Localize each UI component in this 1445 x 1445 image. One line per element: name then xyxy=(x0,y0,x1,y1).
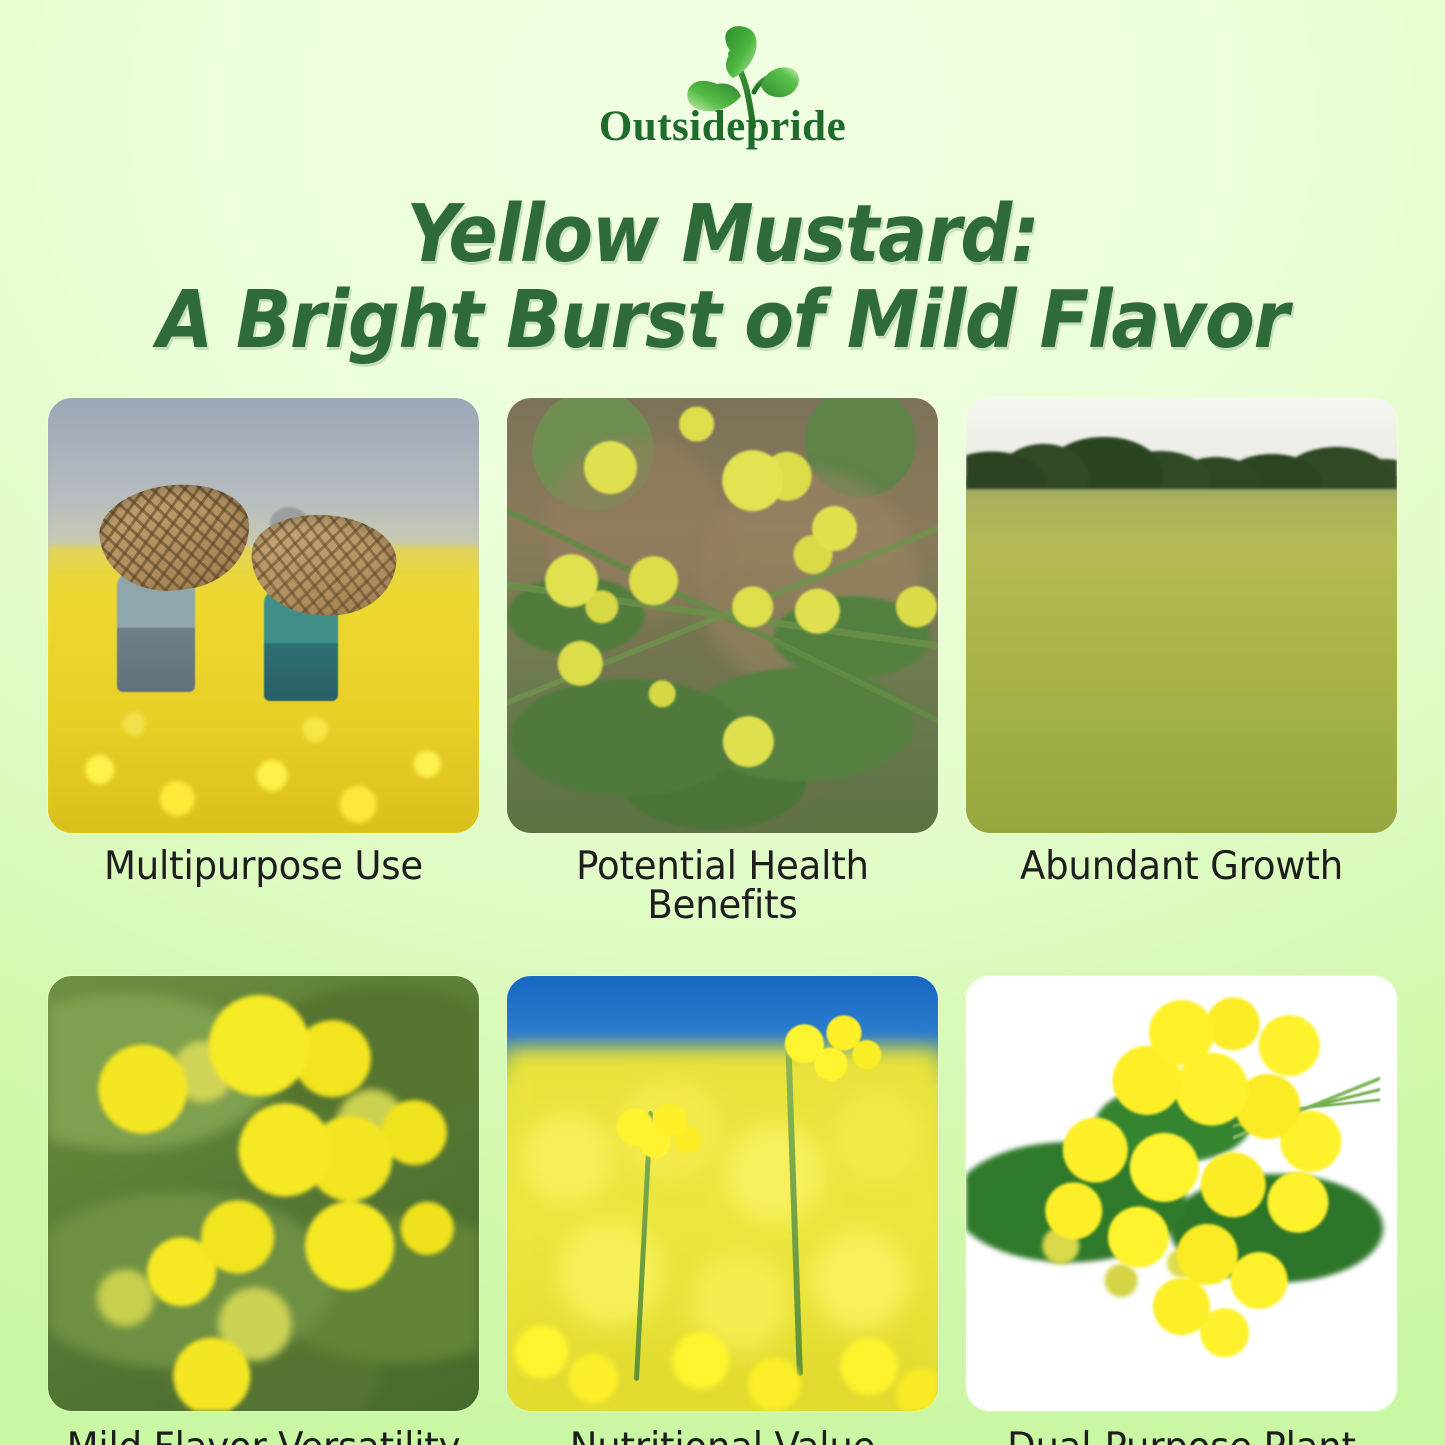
photo-nutritional-value xyxy=(507,976,938,1411)
page-title: Yellow Mustard: A Bright Burst of Mild F… xyxy=(0,196,1445,360)
title-line-1: Yellow Mustard: xyxy=(58,196,1387,273)
photo-dual-purpose-plant xyxy=(966,976,1397,1411)
grid-cell-potential-health-benefits: Potential Health Benefits xyxy=(507,398,938,925)
photo-potential-health-benefits xyxy=(507,398,938,833)
flower-cluster-right xyxy=(766,1011,886,1089)
flower-clusters-layer xyxy=(507,398,938,833)
flower-bunch-layer xyxy=(966,976,1397,1411)
foreground-flowers-layer xyxy=(507,1263,938,1411)
plant-sprout-leaves-icon xyxy=(657,18,807,136)
grid-cell-nutritional-value: Nutritional Value xyxy=(507,976,938,1445)
caption-nutritional-value: Nutritional Value xyxy=(518,1428,927,1445)
caption-abundant-growth: Abundant Growth xyxy=(977,847,1386,886)
grid-row-1: Multipurpose Use Potential Health Benefi… xyxy=(48,398,1397,925)
photo-multipurpose-use xyxy=(48,398,479,833)
grid-cell-dual-purpose-plant: Dual-Purpose Plant xyxy=(966,976,1397,1445)
crop-field-layer xyxy=(966,481,1397,833)
grid-cell-abundant-growth: Abundant Growth xyxy=(966,398,1397,925)
flower-cluster-left xyxy=(602,1098,712,1170)
grid-cell-mild-flavor-versatility: Mild Flavor Versatility xyxy=(48,976,479,1445)
caption-dual-purpose-plant: Dual-Purpose Plant xyxy=(977,1428,1386,1445)
photo-abundant-growth xyxy=(966,398,1397,833)
grid-row-2: Mild Flavor Versatility Nutritional Valu… xyxy=(48,976,1397,1445)
grid-cell-multipurpose-use: Multipurpose Use xyxy=(48,398,479,925)
photo-mild-flavor-versatility xyxy=(48,976,479,1411)
infographic-poster: Outsidepride Yellow Mustard: A Bright Bu… xyxy=(0,0,1445,1445)
caption-mild-flavor-versatility: Mild Flavor Versatility xyxy=(59,1428,468,1445)
title-line-2: A Bright Burst of Mild Flavor xyxy=(58,282,1387,359)
caption-potential-health-benefits: Potential Health Benefits xyxy=(518,847,927,925)
yellow-blossoms-layer xyxy=(48,976,479,1411)
brand-logo: Outsidepride xyxy=(0,18,1445,188)
image-grid: Multipurpose Use Potential Health Benefi… xyxy=(48,398,1397,1445)
caption-multipurpose-use: Multipurpose Use xyxy=(59,847,468,886)
